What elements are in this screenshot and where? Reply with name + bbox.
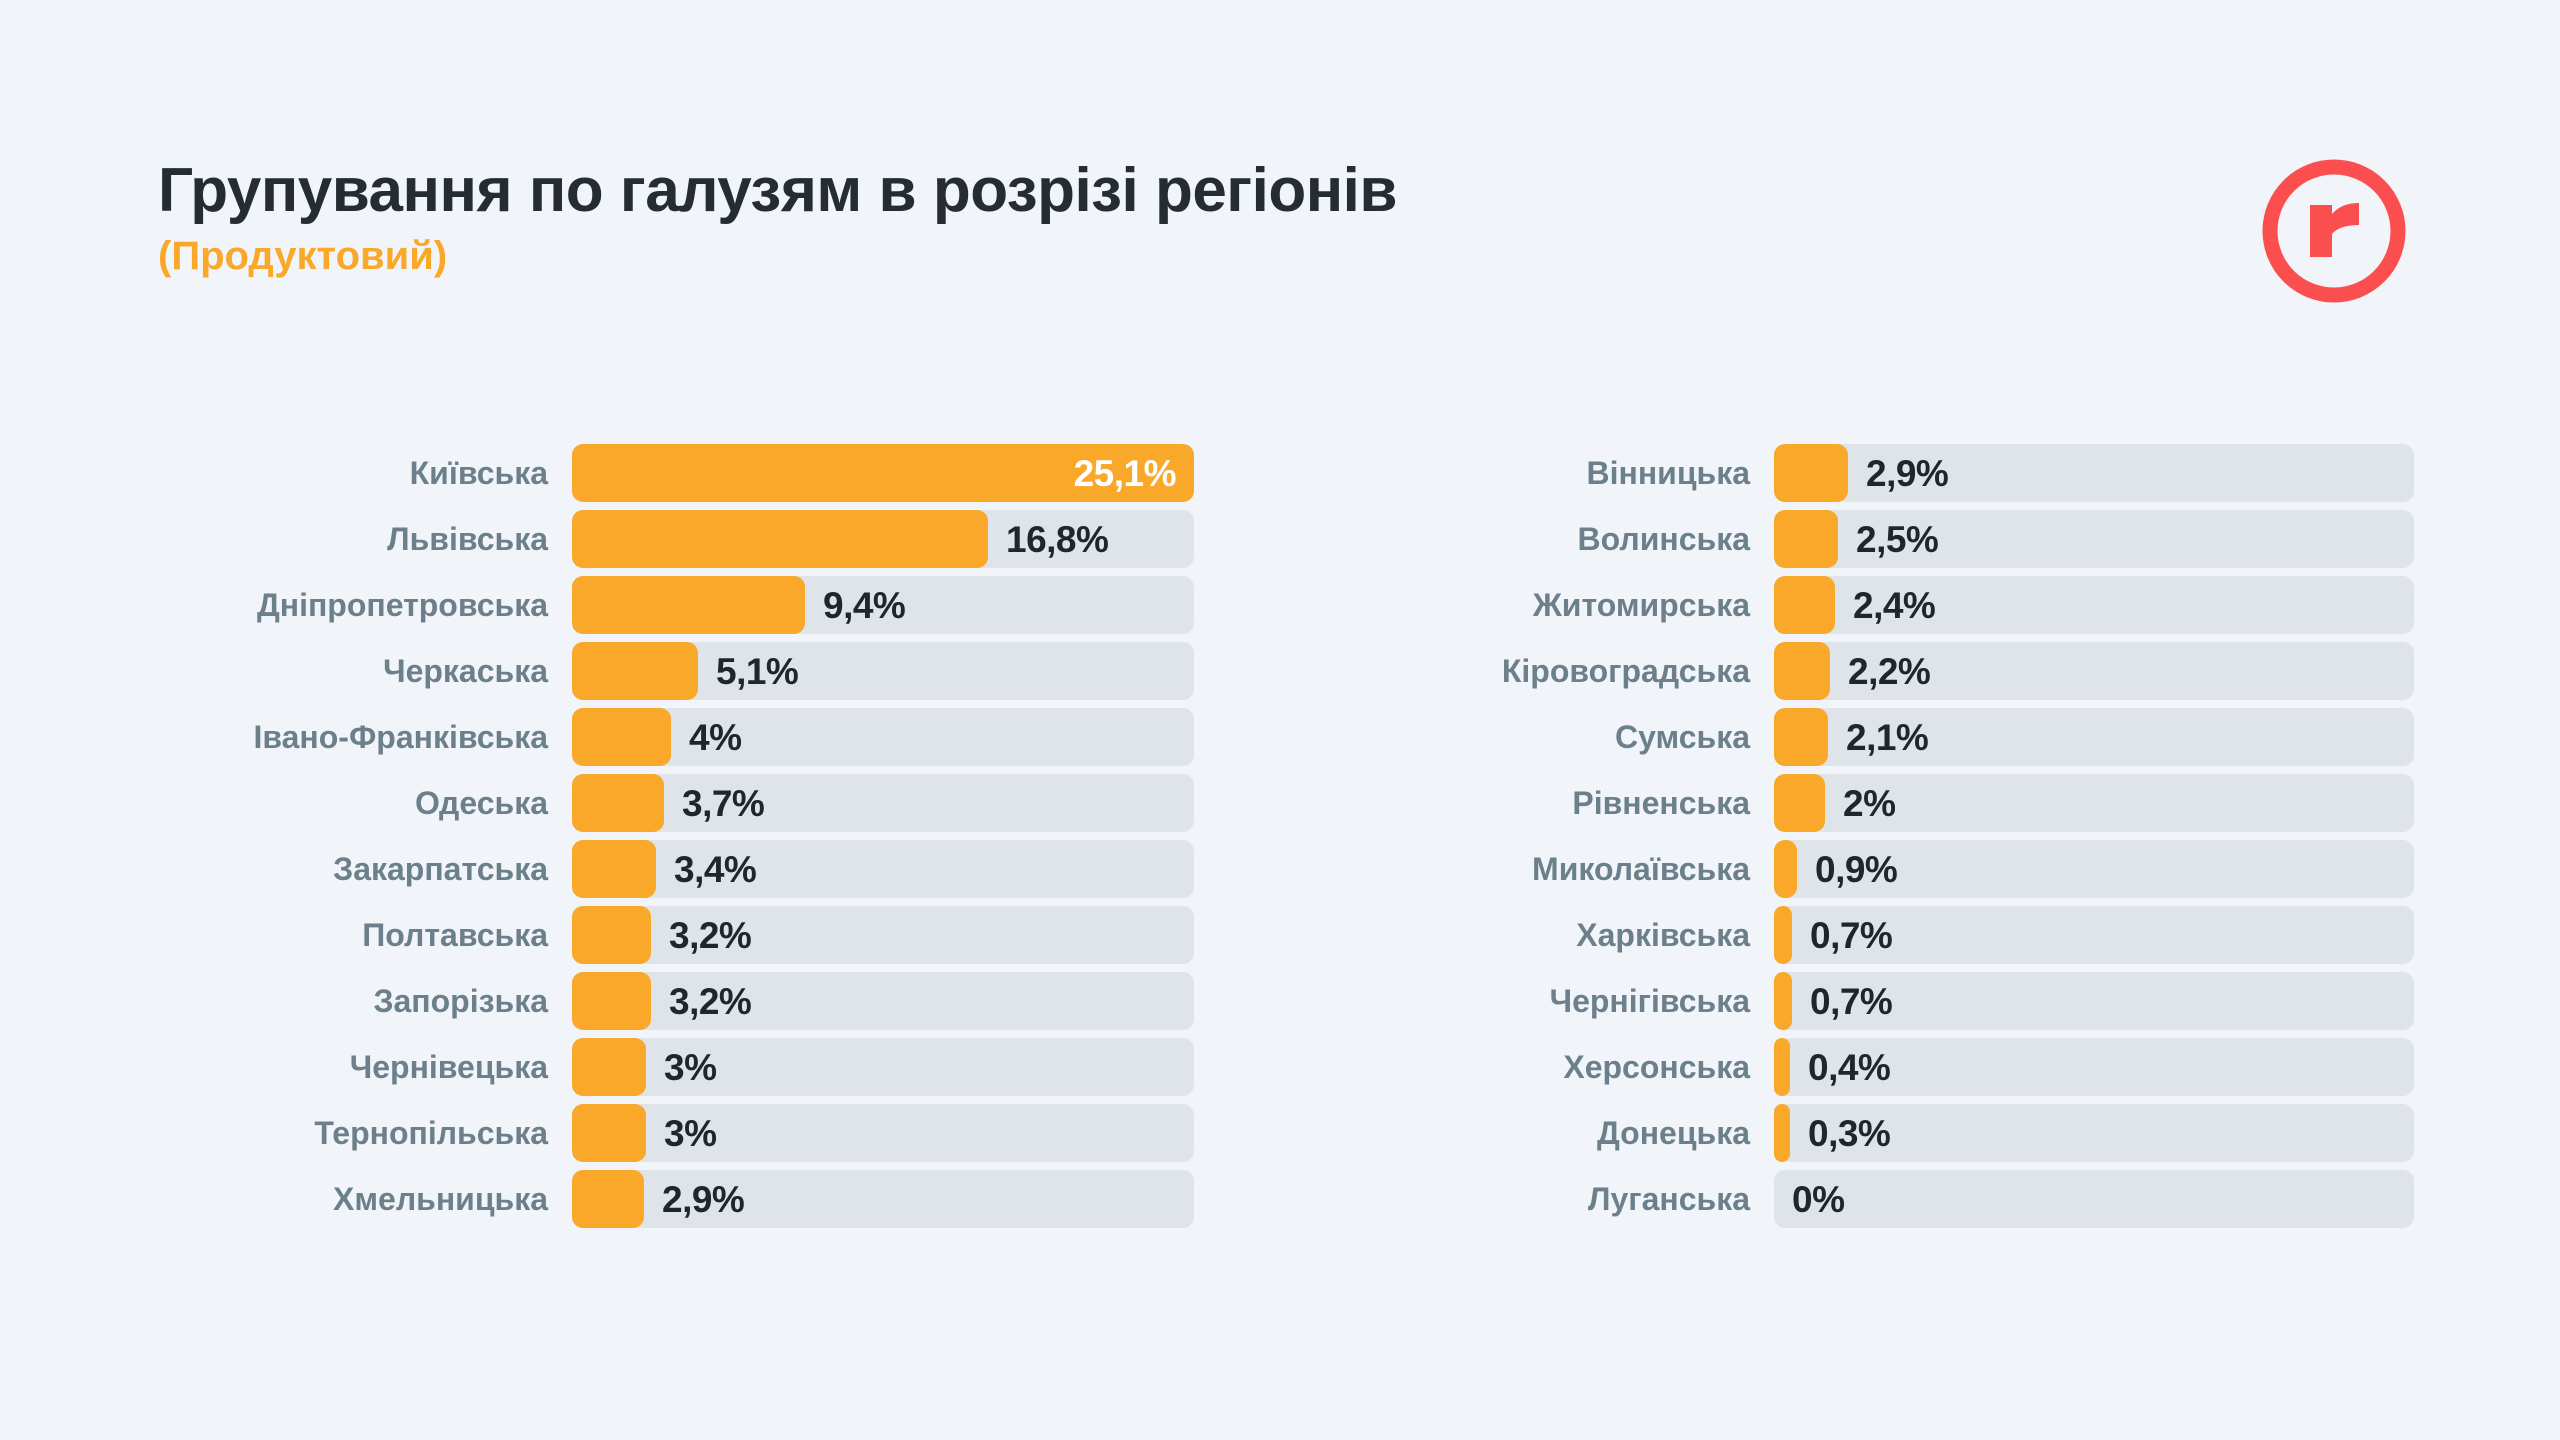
bar-row: Хмельницька2,9%: [0, 1166, 1280, 1232]
chart-column-left: Київська25,1%Львівська16,8%Дніпропетровс…: [0, 440, 1280, 1232]
bar-row-label: Чернігівська: [1280, 985, 1774, 1017]
bar-value-label: 2,1%: [1828, 708, 1928, 766]
bar-value-label: 2,9%: [644, 1170, 744, 1228]
bar-fill: [572, 1038, 646, 1096]
bar-fill: [1774, 510, 1838, 568]
bar-value-label: 2%: [1825, 774, 1895, 832]
bar-value-label: 4%: [671, 708, 741, 766]
bar-fill: [572, 642, 698, 700]
bar-track: 2,9%: [1774, 444, 2414, 502]
bar-row-label: Закарпатська: [0, 853, 572, 885]
bar-fill: [1774, 1038, 1790, 1096]
bar-track: 2%: [1774, 774, 2414, 832]
bar-chart: Київська25,1%Львівська16,8%Дніпропетровс…: [0, 0, 2560, 1440]
bar-row-label: Сумська: [1280, 721, 1774, 753]
bar-value-label: 9,4%: [805, 576, 905, 634]
bar-track: 0%: [1774, 1170, 2414, 1228]
bar-track: 3,4%: [572, 840, 1194, 898]
bar-fill: [1774, 1104, 1790, 1162]
bar-value-label: 0,7%: [1792, 972, 1892, 1030]
bar-row-label: Дніпропетровська: [0, 589, 572, 621]
bar-row-label: Луганська: [1280, 1183, 1774, 1215]
bar-value-label: 3,2%: [651, 972, 751, 1030]
bar-track: 5,1%: [572, 642, 1194, 700]
bar-value-label: 3,2%: [651, 906, 751, 964]
bar-row-label: Чернівецька: [0, 1051, 572, 1083]
bar-row-label: Рівненська: [1280, 787, 1774, 819]
bar-fill: [572, 906, 651, 964]
bar-fill: [572, 708, 671, 766]
bar-row: Сумська2,1%: [1280, 704, 2560, 770]
bar-track: 3,2%: [572, 972, 1194, 1030]
bar-track: 3,7%: [572, 774, 1194, 832]
bar-row-label: Житомирська: [1280, 589, 1774, 621]
bar-fill: [572, 576, 805, 634]
bar-row: Миколаївська0,9%: [1280, 836, 2560, 902]
bar-fill: [1774, 840, 1797, 898]
chart-canvas: Групування по галузям в розрізі регіонів…: [0, 0, 2560, 1440]
bar-track: 2,4%: [1774, 576, 2414, 634]
bar-row: Запорізька3,2%: [0, 968, 1280, 1034]
bar-track: 3%: [572, 1104, 1194, 1162]
bar-row-label: Миколаївська: [1280, 853, 1774, 885]
bar-value-label: 2,9%: [1848, 444, 1948, 502]
bar-track: 25,1%: [572, 444, 1194, 502]
bar-row-label: Київська: [0, 457, 572, 489]
bar-row: Житомирська2,4%: [1280, 572, 2560, 638]
bar-track: 2,5%: [1774, 510, 2414, 568]
bar-track: 0,9%: [1774, 840, 2414, 898]
bar-track: 9,4%: [572, 576, 1194, 634]
bar-fill: [1774, 708, 1828, 766]
bar-fill: [1774, 972, 1792, 1030]
bar-fill: [1774, 774, 1825, 832]
bar-track: 2,2%: [1774, 642, 2414, 700]
bar-track: 2,1%: [1774, 708, 2414, 766]
bar-row-label: Волинська: [1280, 523, 1774, 555]
bar-row-label: Львівська: [0, 523, 572, 555]
bar-value-label: 0,3%: [1790, 1104, 1890, 1162]
bar-value-label: 0%: [1774, 1170, 1844, 1228]
chart-column-right: Вінницька2,9%Волинська2,5%Житомирська2,4…: [1280, 440, 2560, 1232]
bar-fill: [572, 1104, 646, 1162]
bar-fill: [1774, 444, 1848, 502]
bar-row: Одеська3,7%: [0, 770, 1280, 836]
bar-fill: [572, 840, 656, 898]
bar-track: 3%: [572, 1038, 1194, 1096]
bar-row-label: Одеська: [0, 787, 572, 819]
bar-value-label: 3%: [646, 1038, 716, 1096]
bar-track: 0,3%: [1774, 1104, 2414, 1162]
bar-value-label: 25,1%: [1074, 444, 1176, 502]
bar-value-label: 5,1%: [698, 642, 798, 700]
bar-row-label: Вінницька: [1280, 457, 1774, 489]
bar-row: Чернівецька3%: [0, 1034, 1280, 1100]
bar-row-label: Донецька: [1280, 1117, 1774, 1149]
bar-track: 0,7%: [1774, 972, 2414, 1030]
bar-track: 0,4%: [1774, 1038, 2414, 1096]
bar-row-label: Хмельницька: [0, 1183, 572, 1215]
bar-value-label: 0,9%: [1797, 840, 1897, 898]
bar-row-label: Івано-Франківська: [0, 721, 572, 753]
bar-track: 2,9%: [572, 1170, 1194, 1228]
bar-fill: [572, 774, 664, 832]
bar-row: Луганська0%: [1280, 1166, 2560, 1232]
bar-fill: [572, 1170, 644, 1228]
bar-row-label: Запорізька: [0, 985, 572, 1017]
bar-fill: [572, 972, 651, 1030]
bar-value-label: 2,5%: [1838, 510, 1938, 568]
bar-value-label: 0,7%: [1792, 906, 1892, 964]
bar-row: Харківська0,7%: [1280, 902, 2560, 968]
bar-row: Рівненська2%: [1280, 770, 2560, 836]
bar-row: Київська25,1%: [0, 440, 1280, 506]
bar-row: Вінницька2,9%: [1280, 440, 2560, 506]
bar-row: Івано-Франківська4%: [0, 704, 1280, 770]
bar-row: Донецька0,3%: [1280, 1100, 2560, 1166]
bar-row: Львівська16,8%: [0, 506, 1280, 572]
bar-row-label: Херсонська: [1280, 1051, 1774, 1083]
bar-value-label: 3,7%: [664, 774, 764, 832]
bar-row: Тернопільська3%: [0, 1100, 1280, 1166]
bar-value-label: 16,8%: [988, 510, 1108, 568]
bar-row: Волинська2,5%: [1280, 506, 2560, 572]
bar-track: 3,2%: [572, 906, 1194, 964]
bar-row-label: Тернопільська: [0, 1117, 572, 1149]
bar-row: Кіровоградська2,2%: [1280, 638, 2560, 704]
bar-row-label: Харківська: [1280, 919, 1774, 951]
bar-row: Черкаська5,1%: [0, 638, 1280, 704]
bar-track: 0,7%: [1774, 906, 2414, 964]
bar-row-label: Полтавська: [0, 919, 572, 951]
bar-row: Закарпатська3,4%: [0, 836, 1280, 902]
bar-fill: [1774, 642, 1830, 700]
bar-row: Чернігівська0,7%: [1280, 968, 2560, 1034]
bar-value-label: 2,2%: [1830, 642, 1930, 700]
bar-row-label: Черкаська: [0, 655, 572, 687]
bar-fill: [1774, 906, 1792, 964]
bar-row: Херсонська0,4%: [1280, 1034, 2560, 1100]
bar-value-label: 2,4%: [1835, 576, 1935, 634]
bar-track: 4%: [572, 708, 1194, 766]
bar-value-label: 0,4%: [1790, 1038, 1890, 1096]
bar-value-label: 3%: [646, 1104, 716, 1162]
bar-row: Полтавська3,2%: [0, 902, 1280, 968]
bar-value-label: 3,4%: [656, 840, 756, 898]
bar-fill: [572, 510, 988, 568]
bar-track: 16,8%: [572, 510, 1194, 568]
bar-row: Дніпропетровська9,4%: [0, 572, 1280, 638]
bar-row-label: Кіровоградська: [1280, 655, 1774, 687]
bar-fill: [1774, 576, 1835, 634]
